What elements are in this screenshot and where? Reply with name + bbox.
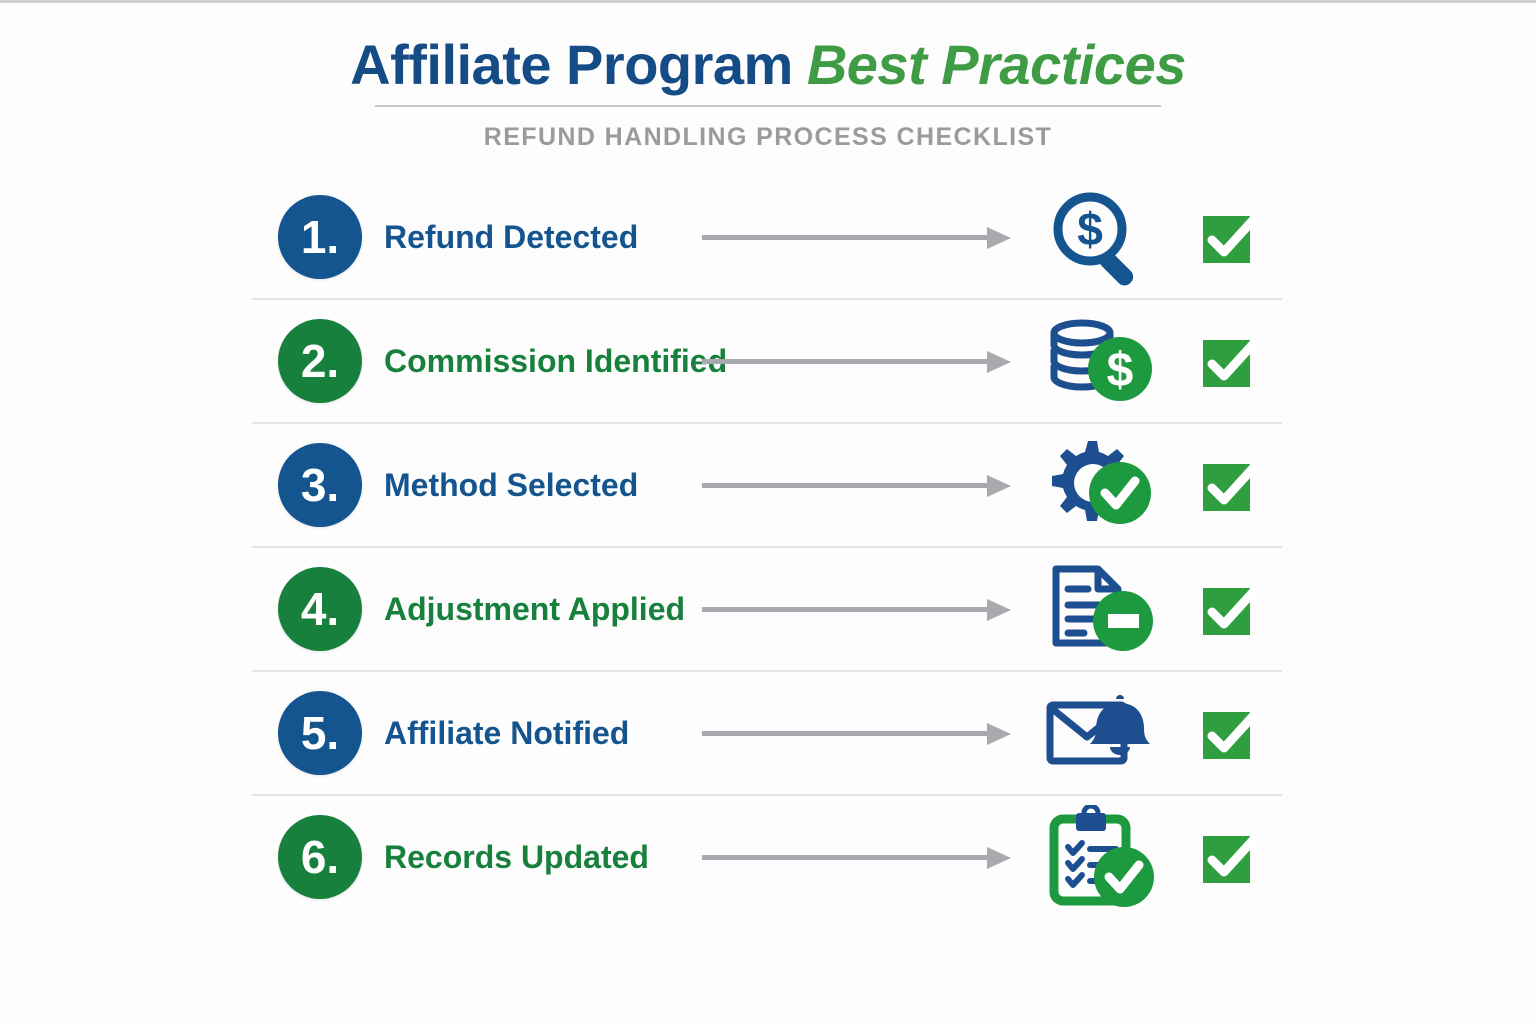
arrow-icon	[702, 720, 1022, 746]
coin-stack-dollar-icon: $	[1038, 311, 1158, 411]
step-number-badge: 3.	[278, 443, 362, 527]
arrow-icon	[702, 596, 1022, 622]
status-checkbox	[1200, 332, 1258, 390]
magnifier-dollar-icon: $	[1038, 187, 1158, 287]
title-main: Affiliate Program	[350, 33, 793, 96]
arrow-icon	[702, 844, 1022, 870]
document-minus-icon	[1038, 559, 1158, 659]
checklist: 1. Refund Detected $	[252, 176, 1282, 918]
header: Affiliate ProgramBest Practices REFUND H…	[0, 34, 1536, 152]
svg-text:$: $	[1107, 344, 1134, 397]
step-icon-cell: $	[1022, 187, 1174, 287]
table-row[interactable]: 4. Adjustment Applied	[252, 548, 1282, 672]
table-row[interactable]: 3. Method Selected	[252, 424, 1282, 548]
step-number-badge: 1.	[278, 195, 362, 279]
infographic-canvas: Affiliate ProgramBest Practices REFUND H…	[0, 0, 1536, 1024]
step-number-badge: 5.	[278, 691, 362, 775]
step-check-cell[interactable]	[1174, 332, 1284, 390]
check-icon	[1200, 332, 1258, 390]
step-label: Adjustment Applied	[384, 591, 702, 628]
top-hairline	[0, 0, 1536, 3]
step-label: Affiliate Notified	[384, 715, 702, 752]
check-icon	[1200, 208, 1258, 266]
step-icon-cell	[1022, 435, 1174, 535]
step-icon-cell	[1022, 559, 1174, 659]
check-icon	[1200, 704, 1258, 762]
step-label: Records Updated	[384, 839, 702, 876]
step-label: Refund Detected	[384, 219, 702, 256]
step-check-cell[interactable]	[1174, 208, 1284, 266]
envelope-bell-icon	[1038, 683, 1158, 783]
page-title: Affiliate ProgramBest Practices	[0, 34, 1536, 97]
title-accent: Best Practices	[807, 33, 1186, 96]
check-icon	[1200, 580, 1258, 638]
svg-text:$: $	[1077, 203, 1103, 255]
status-checkbox	[1200, 580, 1258, 638]
step-check-cell[interactable]	[1174, 704, 1284, 762]
table-row[interactable]: 5. Affiliate Notified	[252, 672, 1282, 796]
step-label: Commission Identified	[384, 343, 702, 380]
status-checkbox	[1200, 828, 1258, 886]
arrow-icon	[702, 348, 1022, 374]
step-check-cell[interactable]	[1174, 828, 1284, 886]
status-checkbox	[1200, 456, 1258, 514]
gear-check-icon	[1038, 435, 1158, 535]
status-checkbox	[1200, 704, 1258, 762]
step-number-badge: 4.	[278, 567, 362, 651]
arrow-icon	[702, 224, 1022, 250]
check-icon	[1200, 828, 1258, 886]
page-subtitle: REFUND HANDLING PROCESS CHECKLIST	[0, 123, 1536, 152]
table-row[interactable]: 6. Records Updated	[252, 796, 1282, 918]
arrow-icon	[702, 472, 1022, 498]
step-icon-cell	[1022, 683, 1174, 783]
step-number-badge: 2.	[278, 319, 362, 403]
step-check-cell[interactable]	[1174, 456, 1284, 514]
title-divider	[375, 105, 1161, 107]
step-icon-cell	[1022, 805, 1174, 910]
step-number-badge: 6.	[278, 815, 362, 899]
check-icon	[1200, 456, 1258, 514]
step-icon-cell: $	[1022, 311, 1174, 411]
step-label: Method Selected	[384, 467, 702, 504]
status-checkbox	[1200, 208, 1258, 266]
table-row[interactable]: 1. Refund Detected $	[252, 176, 1282, 300]
clipboard-check-icon	[1038, 805, 1158, 910]
table-row[interactable]: 2. Commission Identified $	[252, 300, 1282, 424]
step-check-cell[interactable]	[1174, 580, 1284, 638]
